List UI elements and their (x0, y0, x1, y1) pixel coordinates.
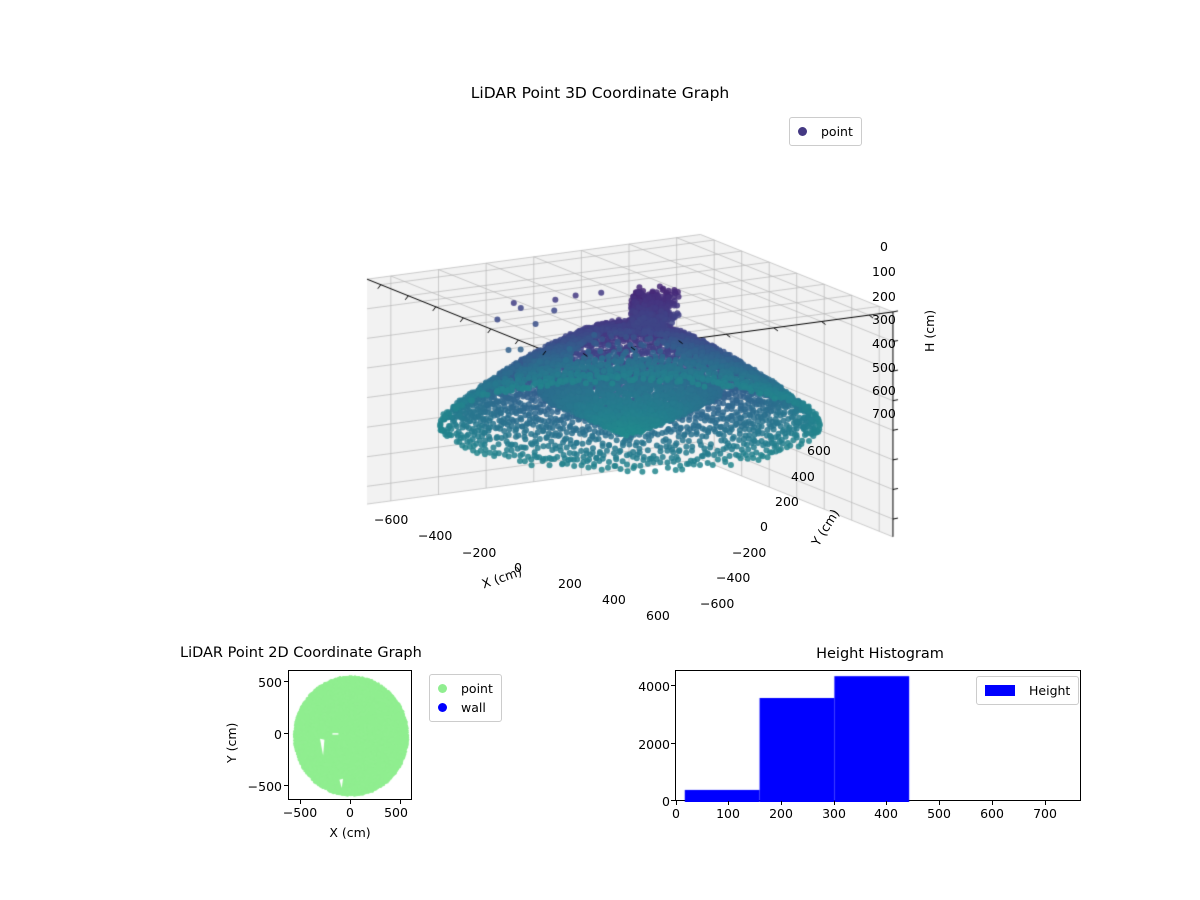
histogram-ytickmark-2000 (671, 743, 675, 744)
plot3d-title: LiDAR Point 3D Coordinate Graph (0, 84, 1200, 102)
plot2d-ytickmark-500 (284, 681, 288, 682)
plot3d-ztick-600: 600 (872, 383, 896, 398)
plot3d-xtick-m600: −600 (374, 512, 408, 527)
histogram-xtickmark-300 (834, 801, 835, 805)
histogram-title: Height Histogram (700, 646, 1060, 662)
legend-marker-wall-icon (438, 703, 447, 712)
plot3d-xtick-m400: −400 (418, 528, 452, 543)
plot3d-xtick-600: 600 (646, 608, 670, 623)
plot2d-ytick-m500: −500 (236, 779, 282, 794)
histogram-ytick-4000: 4000 (620, 679, 670, 694)
plot3d-xtick-m200: −200 (462, 545, 496, 560)
histogram-xtick-0: 0 (656, 806, 696, 821)
plot3d-ztick-200: 200 (872, 289, 896, 304)
histogram-xtick-300: 300 (814, 806, 854, 821)
legend-marker-point-icon (798, 127, 807, 136)
histogram-xtick-600: 600 (972, 806, 1012, 821)
plot3d-ytick-600: 600 (807, 443, 831, 458)
plot3d-axes[interactable] (300, 140, 960, 640)
histogram-xtickmark-0 (676, 801, 677, 805)
legend-item-point: point (438, 679, 493, 698)
plot2d-xtickmark-500 (400, 800, 401, 804)
plot3d-ytick-m400: −400 (716, 570, 750, 585)
plot2d-xtickmark-0 (350, 800, 351, 804)
plot2d-title: LiDAR Point 2D Coordinate Graph (180, 645, 520, 661)
plot2d-ytickmark-m500 (284, 785, 288, 786)
histogram-xtickmark-500 (939, 801, 940, 805)
plot2d-axes[interactable] (288, 670, 412, 800)
plot2d-ytick-500: 500 (236, 675, 282, 690)
histogram-xtickmark-400 (886, 801, 887, 805)
histogram-legend: Height (976, 676, 1079, 705)
plot3d-ytick-m600: −600 (700, 596, 734, 611)
plot3d-xtick-400: 400 (602, 592, 626, 607)
plot2d-xtick-500: 500 (376, 805, 416, 820)
histogram-xtick-400: 400 (866, 806, 906, 821)
plot2d-xtick-m500: −500 (280, 805, 320, 820)
histogram-ytickmark-0 (671, 800, 675, 801)
plot2d-xtickmark-m500 (300, 800, 301, 804)
plot3d-ytick-m200: −200 (732, 545, 766, 560)
plot3d-ztick-500: 500 (872, 360, 896, 375)
histogram-xtick-700: 700 (1025, 806, 1065, 821)
plot3d-zaxis-label: H (cm) (922, 310, 937, 352)
plot3d-ytick-200: 200 (775, 494, 799, 509)
plot2d-pointcloud (289, 671, 413, 801)
plot3d-pointcloud (300, 140, 960, 640)
plot3d-ztick-100: 100 (872, 264, 896, 279)
plot3d-ztick-0: 0 (880, 239, 888, 254)
plot2d-yaxis-label: Y (cm) (224, 723, 239, 763)
plot2d-ytick-0: 0 (236, 727, 282, 742)
plot3d-xtick-200: 200 (558, 576, 582, 591)
histogram-xtickmark-100 (728, 801, 729, 805)
figure-canvas: LiDAR Point 3D Coordinate Graph point 0 … (0, 0, 1200, 900)
histogram-xtick-500: 500 (919, 806, 959, 821)
plot2d-xtick-0: 0 (330, 805, 370, 820)
legend-marker-point-icon (438, 684, 447, 693)
histogram-xtickmark-700 (1045, 801, 1046, 805)
plot3d-ztick-700: 700 (872, 406, 896, 421)
plot2d-ytickmark-0 (284, 733, 288, 734)
legend-item-height: Height (985, 681, 1070, 700)
histogram-xtickmark-600 (992, 801, 993, 805)
plot3d-ztick-300: 300 (872, 312, 896, 327)
plot2d-xaxis-label: X (cm) (310, 825, 390, 840)
histogram-ytick-2000: 2000 (620, 737, 670, 752)
plot3d-ztick-400: 400 (872, 336, 896, 351)
legend-item-wall: wall (438, 698, 493, 717)
legend-label-point: point (461, 681, 493, 696)
legend-swatch-height-icon (985, 685, 1015, 696)
plot3d-ytick-400: 400 (791, 469, 815, 484)
legend-label-point: point (821, 124, 853, 139)
legend-label-wall: wall (461, 700, 486, 715)
histogram-ytickmark-4000 (671, 685, 675, 686)
histogram-xtickmark-200 (781, 801, 782, 805)
plot2d-legend: point wall (429, 674, 502, 722)
plot3d-ytick-0: 0 (760, 519, 768, 534)
legend-label-height: Height (1029, 683, 1070, 698)
legend-item-point: point (798, 122, 853, 141)
histogram-xtick-100: 100 (708, 806, 748, 821)
histogram-xtick-200: 200 (761, 806, 801, 821)
